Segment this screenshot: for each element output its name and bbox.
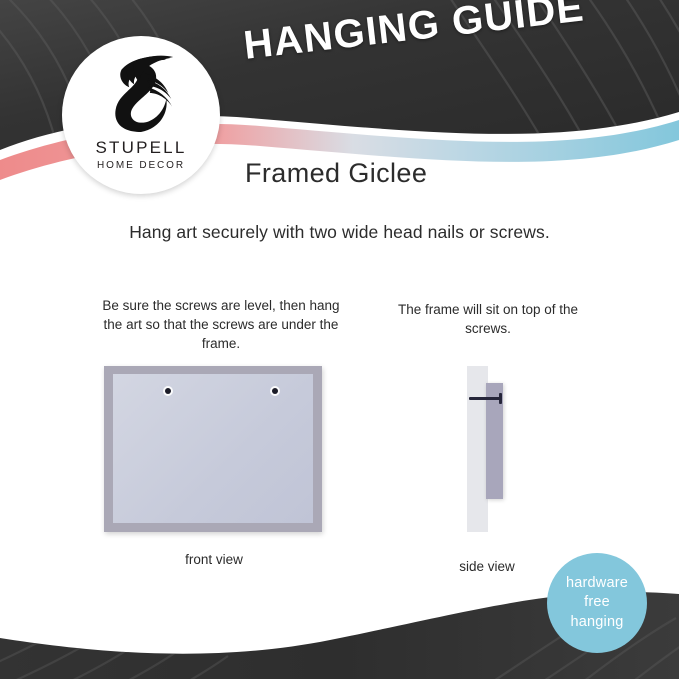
hardware-free-hanging-badge-text: hardware free hanging bbox=[566, 574, 628, 631]
front-view-diagram bbox=[104, 366, 322, 532]
hardware-free-hanging-badge: hardware free hanging bbox=[547, 553, 647, 653]
side-view-label: side view bbox=[424, 559, 550, 574]
page-title: HANGING GUIDE bbox=[241, 0, 586, 69]
front-view-screw-right bbox=[272, 388, 278, 394]
logo-brand-subtitle: HOME DECOR bbox=[97, 161, 185, 171]
front-view-caption: Be sure the screws are level, then hang … bbox=[92, 296, 350, 353]
side-view-screw-shaft bbox=[469, 397, 501, 400]
product-type-heading: Framed Giclee bbox=[245, 158, 427, 189]
hanging-guide-page: STUPELL HOME DECOR HANGING GUIDE Framed … bbox=[0, 0, 679, 679]
stupell-s-swoosh-icon bbox=[102, 54, 180, 136]
side-view-wall bbox=[467, 366, 488, 532]
intro-instruction-text: Hang art securely with two wide head nai… bbox=[0, 222, 679, 243]
side-view-screw-head bbox=[499, 393, 502, 404]
stupell-logo-badge: STUPELL HOME DECOR bbox=[62, 36, 220, 194]
side-view-diagram bbox=[467, 366, 523, 532]
front-view-screw-left bbox=[165, 388, 171, 394]
front-view-label: front view bbox=[112, 552, 316, 567]
logo-brand-name: STUPELL bbox=[96, 139, 187, 156]
front-view-artwork-mat bbox=[113, 374, 313, 523]
side-view-caption: The frame will sit on top of the screws. bbox=[382, 300, 594, 338]
